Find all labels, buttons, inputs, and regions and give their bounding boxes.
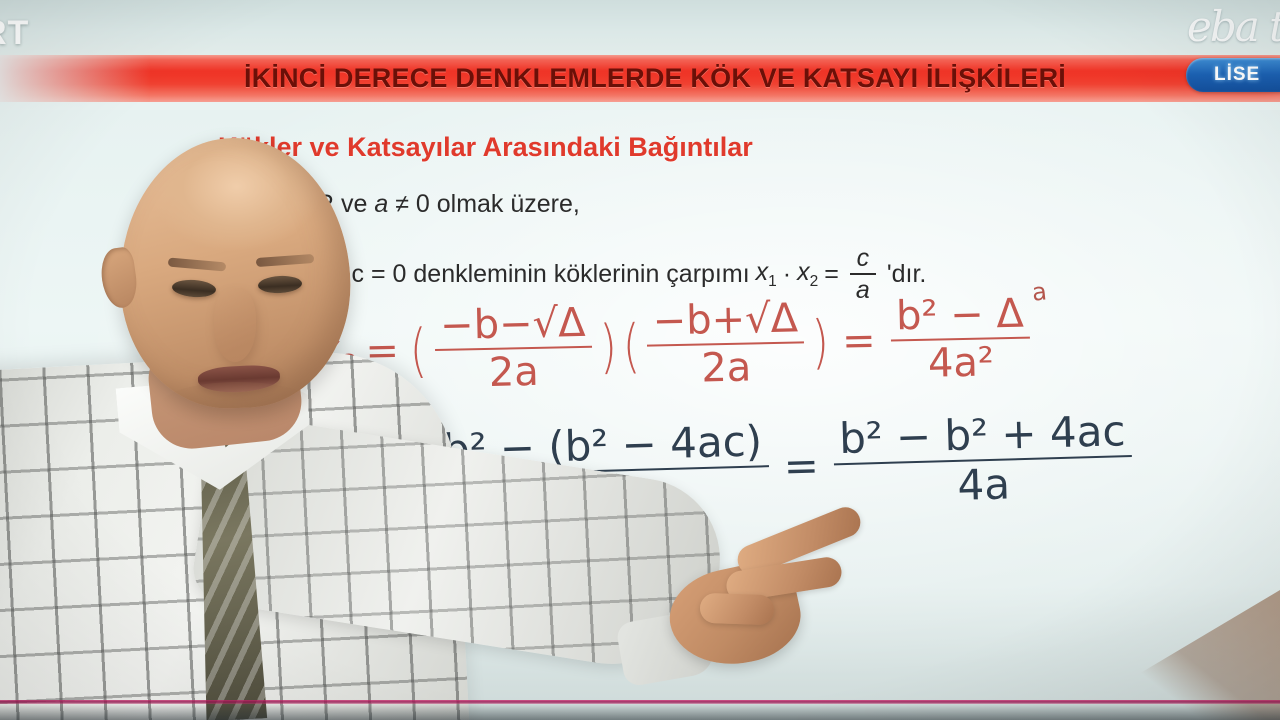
presenter-nose <box>214 288 256 362</box>
product-x2-sub: 2 <box>810 273 819 290</box>
product-tail: 'dır. <box>887 260 927 289</box>
video-frame: RT eba t İKİNCİ DERECE DENKLEMLERDE KÖK … <box>0 0 1280 720</box>
hw2-equals-2: = <box>783 440 820 490</box>
hw1-fraction-2-numerator: −b+√Δ <box>646 297 804 342</box>
eba-watermark: eba t <box>1187 2 1280 51</box>
presenter-chin-shadow <box>160 382 316 428</box>
product-equals: = <box>824 260 839 289</box>
product-x2: x2 <box>797 258 818 291</box>
hw2-fraction-2-numerator: b² − b² + 4ac <box>833 409 1132 461</box>
channel-logo: RT <box>0 14 29 53</box>
product-x1: x1 <box>756 258 777 291</box>
hw1-open-paren-2: ( <box>622 312 640 380</box>
product-fraction-numerator: c <box>851 245 876 271</box>
lesson-title-bar: İKİNCİ DERECE DENKLEMLERDE KÖK VE KATSAY… <box>0 55 1280 102</box>
hw1-fraction-2: −b+√Δ 2a <box>646 297 805 390</box>
hw1-close-paren-1: ) <box>599 312 617 380</box>
hand-finger-thumb <box>699 593 774 626</box>
lesson-title: İKİNCİ DERECE DENKLEMLERDE KÖK VE KATSAY… <box>155 55 1155 102</box>
level-badge-label: LİSE <box>1214 64 1260 86</box>
presenter <box>0 120 560 720</box>
bottom-edge-fade <box>0 704 1280 720</box>
hw2-fraction-2-denominator: 4a <box>951 462 1017 508</box>
hw1-fraction-3-numerator: b² − Δ <box>890 293 1031 338</box>
level-badge: LİSE <box>1186 58 1280 92</box>
hw1-fraction-3: b² − Δ 4a² <box>890 293 1032 386</box>
product-dot: · <box>783 260 791 289</box>
product-x1-sub: 1 <box>768 273 777 290</box>
hw1-fraction-2-denominator: 2a <box>695 346 758 389</box>
product-fraction-bar <box>850 273 876 275</box>
broadcast-top-strip <box>0 0 1280 55</box>
handwritten-annotation-a: a <box>1031 277 1049 306</box>
hw2-fraction-2: b² − b² + 4ac 4a <box>833 409 1134 511</box>
product-x2-base: x <box>797 258 810 286</box>
pointing-hand <box>660 520 870 670</box>
hw1-fraction-3-denominator: 4a² <box>921 341 1000 385</box>
product-x1-base: x <box>756 258 769 286</box>
hw1-equals-2: = <box>842 318 876 365</box>
hw1-close-paren-2: ) <box>812 308 830 376</box>
product-fraction: c a <box>850 245 876 304</box>
